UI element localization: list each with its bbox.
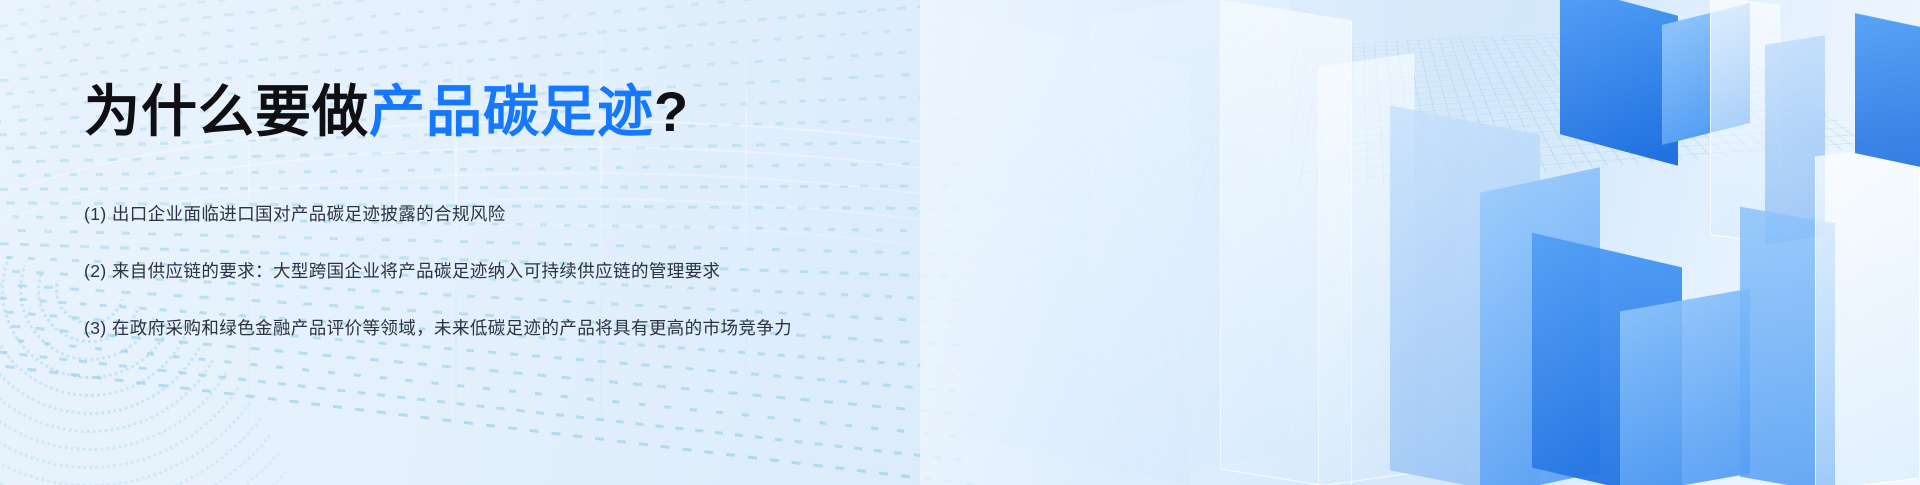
- bullet-list: (1) 出口企业面临进口国对产品碳足迹披露的合规风险 (2) 来自供应链的要求：…: [84, 200, 792, 342]
- title-highlight: 产品碳足迹: [369, 80, 654, 143]
- bullet-text: 出口企业面临进口国对产品碳足迹披露的合规风险: [112, 204, 506, 224]
- list-item: (2) 来自供应链的要求：大型跨国企业将产品碳足迹纳入可持续供应链的管理要求: [84, 257, 792, 285]
- bullet-marker: (3): [84, 318, 107, 338]
- bullet-text: 在政府采购和绿色金融产品评价等领域，未来低碳足迹的产品将具有更高的市场竞争力: [112, 318, 792, 338]
- bullet-text: 来自供应链的要求：大型跨国企业将产品碳足迹纳入可持续供应链的管理要求: [112, 261, 721, 281]
- bullet-marker: (2): [84, 261, 107, 281]
- list-item: (3) 在政府采购和绿色金融产品评价等领域，未来低碳足迹的产品将具有更高的市场竞…: [84, 314, 792, 342]
- geo-light-wash: [920, 0, 1920, 485]
- bullet-marker: (1): [84, 204, 107, 224]
- page-title: 为什么要做产品碳足迹?: [84, 80, 689, 144]
- title-lead: 为什么要做: [84, 80, 369, 143]
- title-question-mark: ?: [654, 80, 689, 143]
- list-item: (1) 出口企业面临进口国对产品碳足迹披露的合规风险: [84, 200, 792, 228]
- geometric-artwork: [920, 0, 1920, 485]
- hero-banner: 为什么要做产品碳足迹? (1) 出口企业面临进口国对产品碳足迹披露的合规风险 (…: [0, 0, 1920, 485]
